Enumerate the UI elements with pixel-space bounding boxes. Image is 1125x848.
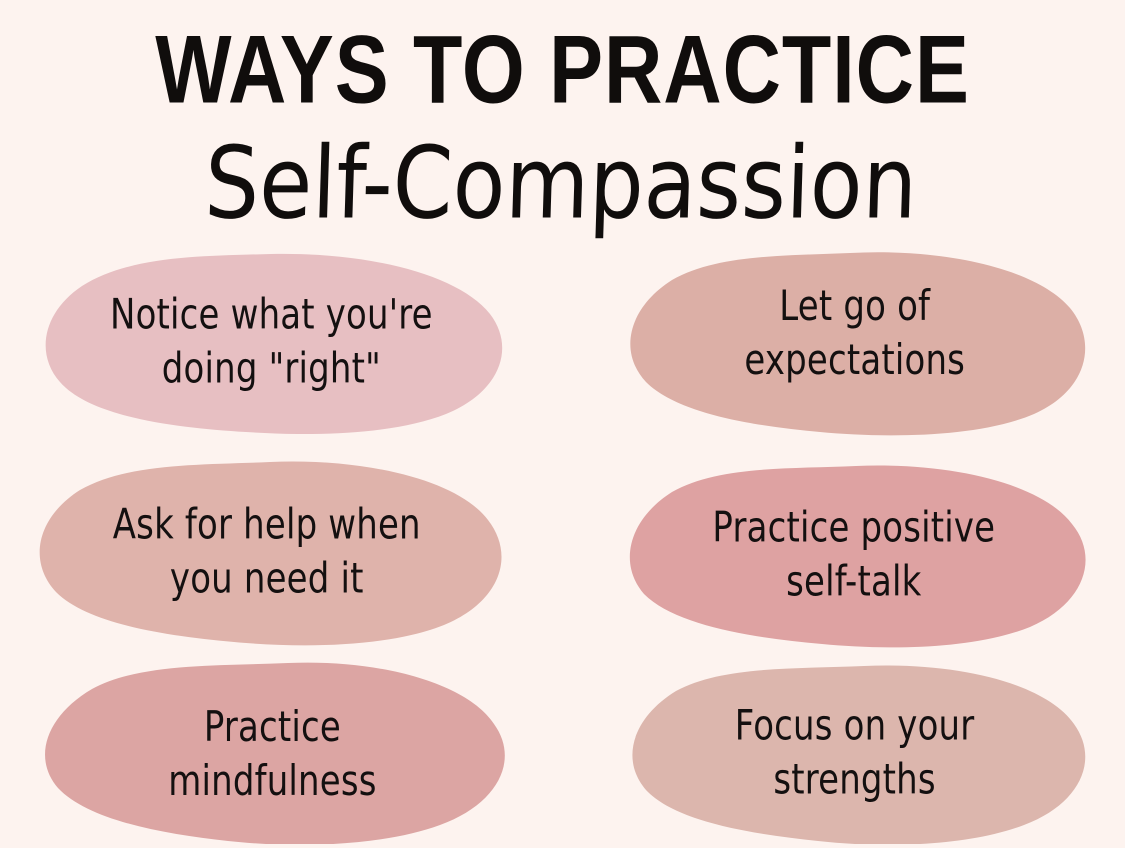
tip-label: Let go of expectations	[723, 281, 986, 389]
tip-label: Notice what you're doing "right"	[88, 289, 453, 397]
tip-blob-practice-mindfulness: Practice mindfulness	[36, 662, 508, 844]
tip-blob-practice-positive-self-talk: Practice positive self-talk	[620, 464, 1088, 648]
tip-label: Practice positive self-talk	[691, 502, 1017, 610]
tip-label: Focus on your strengths	[714, 700, 996, 808]
tip-blob-let-go-of-expectations: Let go of expectations @MINDFULENOUGH__	[622, 250, 1088, 436]
poster-canvas: WAYS TO PRACTICE Self-Compassion Notice …	[0, 0, 1125, 848]
tip-blob-notice-what-youre-doing-right: Notice what you're doing "right"	[38, 252, 504, 434]
title-line-primary: WAYS TO PRACTICE	[34, 22, 1092, 118]
tip-label: Practice mindfulness	[146, 702, 397, 810]
tip-blob-ask-for-help-when-you-need-it: Ask for help when you need it	[30, 460, 504, 646]
title-line-secondary: Self-Compassion	[0, 134, 1125, 234]
tip-label: Ask for help when you need it	[92, 499, 443, 607]
poster-title: WAYS TO PRACTICE Self-Compassion	[0, 0, 1125, 220]
tip-blob-focus-on-your-strengths: Focus on your strengths	[622, 664, 1088, 844]
